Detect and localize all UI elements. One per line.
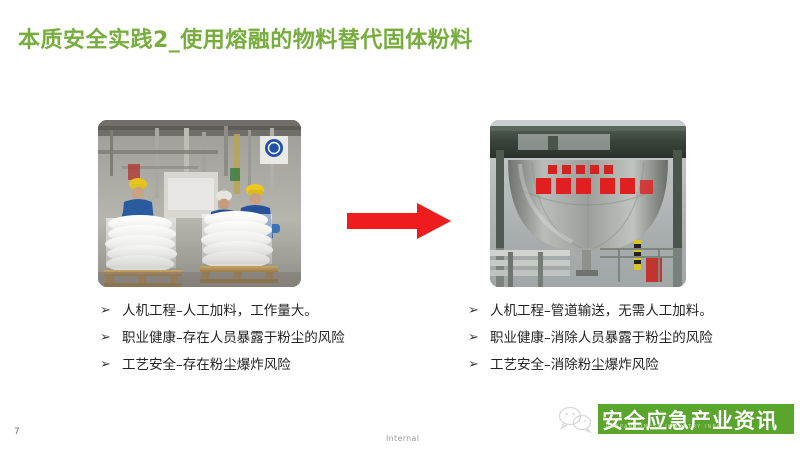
watermark-subtitle: PREPAREDNESS INDUSTRY INFO xyxy=(606,424,722,430)
bullet-arrow-icon: ➢ xyxy=(468,330,490,346)
list-item: ➢ 工艺安全–存在粉尘爆炸风险 xyxy=(100,357,430,374)
before-photo xyxy=(98,120,301,287)
list-item-label: 人机工程–人工加料，工作量大。 xyxy=(122,303,430,320)
bullet-arrow-icon: ➢ xyxy=(468,357,490,373)
list-item: ➢ 人机工程–管道输送，无需人工加料。 xyxy=(468,303,798,320)
bullet-arrow-icon: ➢ xyxy=(468,303,490,319)
list-item: ➢ 职业健康–消除人员暴露于粉尘的风险 xyxy=(468,330,798,347)
slide-canvas: 本质安全实践2_使用熔融的物料替代固体粉料 xyxy=(0,0,800,450)
list-item: ➢ 人机工程–人工加料，工作量大。 xyxy=(100,303,430,320)
transition-arrow-graphic xyxy=(345,200,453,242)
list-item: ➢ 职业健康–存在人员暴露于粉尘的风险 xyxy=(100,330,430,347)
before-photo-graphic xyxy=(98,120,301,287)
bullet-arrow-icon: ➢ xyxy=(100,357,122,373)
list-item-label: 职业健康–存在人员暴露于粉尘的风险 xyxy=(122,330,430,347)
page-title: 本质安全实践2_使用熔融的物料替代固体粉料 xyxy=(18,22,473,54)
list-item-label: 职业健康–消除人员暴露于粉尘的风险 xyxy=(490,330,798,347)
list-item-label: 人机工程–管道输送，无需人工加料。 xyxy=(490,303,798,320)
bullet-arrow-icon: ➢ xyxy=(100,330,122,346)
list-item: ➢ 工艺安全–消除粉尘爆炸风险 xyxy=(468,357,798,374)
bullet-arrow-icon: ➢ xyxy=(100,303,122,319)
transition-arrow xyxy=(345,200,453,242)
before-bullet-list: ➢ 人机工程–人工加料，工作量大。 ➢ 职业健康–存在人员暴露于粉尘的风险 ➢ … xyxy=(100,303,430,384)
after-bullet-list: ➢ 人机工程–管道输送，无需人工加料。 ➢ 职业健康–消除人员暴露于粉尘的风险 … xyxy=(468,303,798,384)
after-photo-graphic xyxy=(490,120,686,287)
page-number: 7 xyxy=(14,427,20,437)
watermark-band: 安全应急产业资讯 PREPAREDNESS INDUSTRY INFO xyxy=(598,404,794,434)
confidentiality-label: Internal xyxy=(386,434,419,443)
list-item-label: 工艺安全–消除粉尘爆炸风险 xyxy=(490,357,798,374)
wechat-bubble-glyph xyxy=(556,404,596,434)
wechat-bubble-icon xyxy=(556,404,596,434)
after-photo xyxy=(490,120,686,287)
watermark: 安全应急产业资讯 PREPAREDNESS INDUSTRY INFO xyxy=(556,401,794,437)
list-item-label: 工艺安全–存在粉尘爆炸风险 xyxy=(122,357,430,374)
